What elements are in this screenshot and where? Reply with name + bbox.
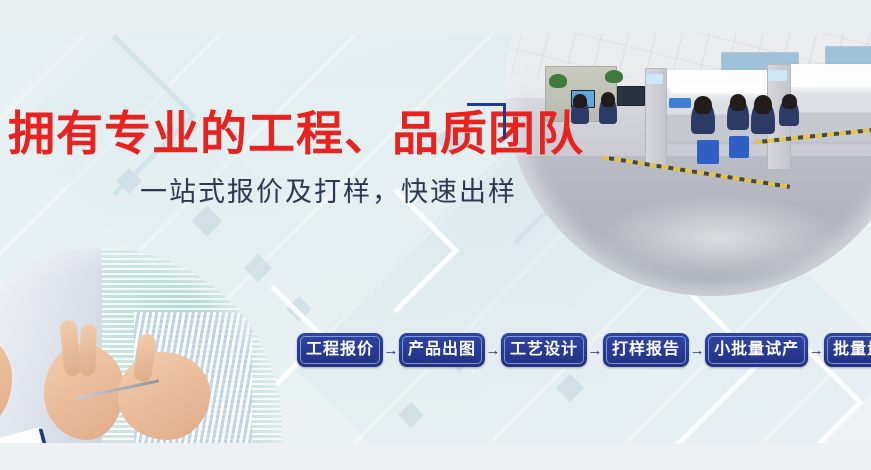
photo-business-meeting: [0, 248, 282, 470]
top-band: [0, 0, 871, 33]
process-flow: 工程报价→产品出图→工艺设计→打样报告→小批量试产→批量量产: [297, 333, 871, 367]
page-subtitle: 一站式报价及打样，快速出样: [0, 179, 520, 206]
process-step-label: 产品出图: [408, 342, 476, 358]
process-step-chip[interactable]: 工程报价: [297, 333, 383, 367]
photo-worker-hair: [694, 96, 712, 114]
photo-worker-hair: [601, 92, 615, 107]
process-flow-arrow-icon: →: [383, 343, 399, 358]
process-flow-arrow-icon: →: [587, 343, 603, 358]
photo-plant: [549, 74, 567, 88]
process-step-chip[interactable]: 产品出图: [399, 333, 485, 367]
process-step-chip[interactable]: 打样报告: [603, 333, 689, 367]
promo-banner: 拥有专业的工程、品质团队 一站式报价及打样，快速出样 工程报价→产品出图→工艺设…: [0, 0, 871, 470]
headline-block: 拥有专业的工程、品质团队 一站式报价及打样，快速出样: [0, 110, 520, 206]
page-title: 拥有专业的工程、品质团队: [0, 110, 520, 157]
photo-label-tag: [768, 70, 787, 81]
photo-worker-hair: [782, 94, 797, 109]
bottom-band: [0, 443, 871, 470]
photo-bench-light: [671, 88, 769, 93]
corner-bracket-decoration: [467, 103, 506, 139]
process-step-label: 工程报价: [306, 342, 374, 358]
process-flow-arrow-icon: →: [485, 343, 501, 358]
process-flow-arrow-icon: →: [808, 343, 824, 358]
photo-worker-hair: [573, 94, 587, 108]
photo-hand: [118, 352, 210, 440]
process-step-label: 工艺设计: [510, 342, 578, 358]
process-step-label: 小批量试产: [714, 342, 799, 358]
process-step-chip[interactable]: 批量量产: [824, 333, 871, 367]
photo-plant: [605, 70, 623, 83]
photo-stool: [729, 136, 749, 158]
photo-label-tag: [646, 74, 663, 84]
photo-worker-hair: [754, 95, 772, 114]
process-step-label: 批量量产: [833, 342, 871, 358]
process-step-chip[interactable]: 小批量试产: [705, 333, 808, 367]
process-step-label: 打样报告: [612, 342, 680, 358]
photo-stool: [697, 140, 719, 164]
process-flow-arrow-icon: →: [689, 343, 705, 358]
photo-monitor: [617, 86, 645, 106]
photo-finger: [79, 324, 97, 377]
photo-bench-light: [789, 82, 871, 87]
photo-parts-tray: [669, 98, 691, 108]
process-step-chip[interactable]: 工艺设计: [501, 333, 587, 367]
photo-worker-hair: [730, 94, 746, 111]
photo-floor-marking: [602, 155, 790, 189]
